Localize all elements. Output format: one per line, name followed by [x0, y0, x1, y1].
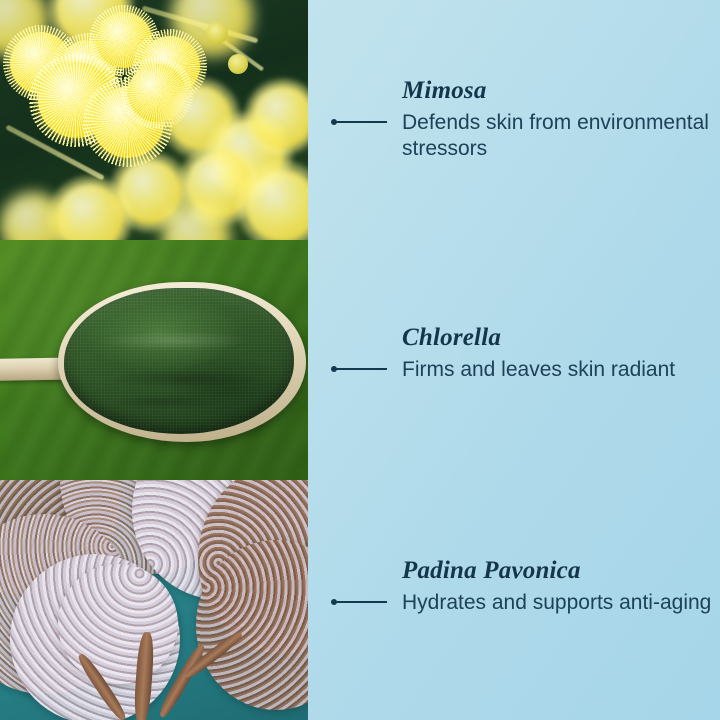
mimosa-flower — [166, 206, 226, 240]
ingredient-text-mimosa: Mimosa Defends skin from environmental s… — [378, 78, 720, 163]
ingredient-description: Firms and leaves skin radiant — [402, 357, 720, 383]
connector-line-chlorella — [308, 325, 378, 369]
ingredient-description: Hydrates and supports anti-aging — [402, 590, 720, 616]
ingredient-text-padina-pavonica: Padina Pavonica Hydrates and supports an… — [378, 558, 720, 616]
connector-rule — [335, 368, 387, 370]
ingredient-name: Padina Pavonica — [402, 558, 720, 583]
mimosa-illustration — [0, 0, 308, 240]
connector-line-mimosa — [308, 78, 378, 122]
mimosa-flower — [246, 170, 308, 240]
photo-chlorella — [0, 240, 308, 480]
photo-column — [0, 0, 308, 720]
ingredient-entry-padina-pavonica: Padina Pavonica Hydrates and supports an… — [308, 558, 720, 616]
padina-illustration — [0, 480, 308, 720]
mimosa-bud — [228, 54, 248, 74]
chlorella-powder — [64, 288, 294, 434]
ingredient-text-chlorella: Chlorella Firms and leaves skin radiant — [378, 325, 720, 383]
ingredient-description: Defends skin from environmental stressor… — [402, 110, 720, 163]
connector-rule — [335, 601, 387, 603]
mimosa-flower — [252, 86, 308, 148]
photo-padina-pavonica — [0, 480, 308, 720]
mimosa-bud — [206, 22, 228, 44]
photo-mimosa — [0, 0, 308, 240]
mimosa-flower — [4, 196, 62, 240]
ingredient-entry-mimosa: Mimosa Defends skin from environmental s… — [308, 78, 720, 163]
ingredient-name: Mimosa — [402, 78, 720, 103]
ingredient-name: Chlorella — [402, 325, 720, 350]
ingredient-entry-chlorella: Chlorella Firms and leaves skin radiant — [308, 325, 720, 383]
chlorella-illustration — [0, 240, 308, 480]
connector-rule — [335, 121, 387, 123]
ingredient-list: Mimosa Defends skin from environmental s… — [308, 0, 720, 720]
connector-line-padina-pavonica — [308, 558, 378, 602]
ingredient-infographic: Mimosa Defends skin from environmental s… — [0, 0, 720, 720]
padina-frond — [58, 564, 178, 684]
